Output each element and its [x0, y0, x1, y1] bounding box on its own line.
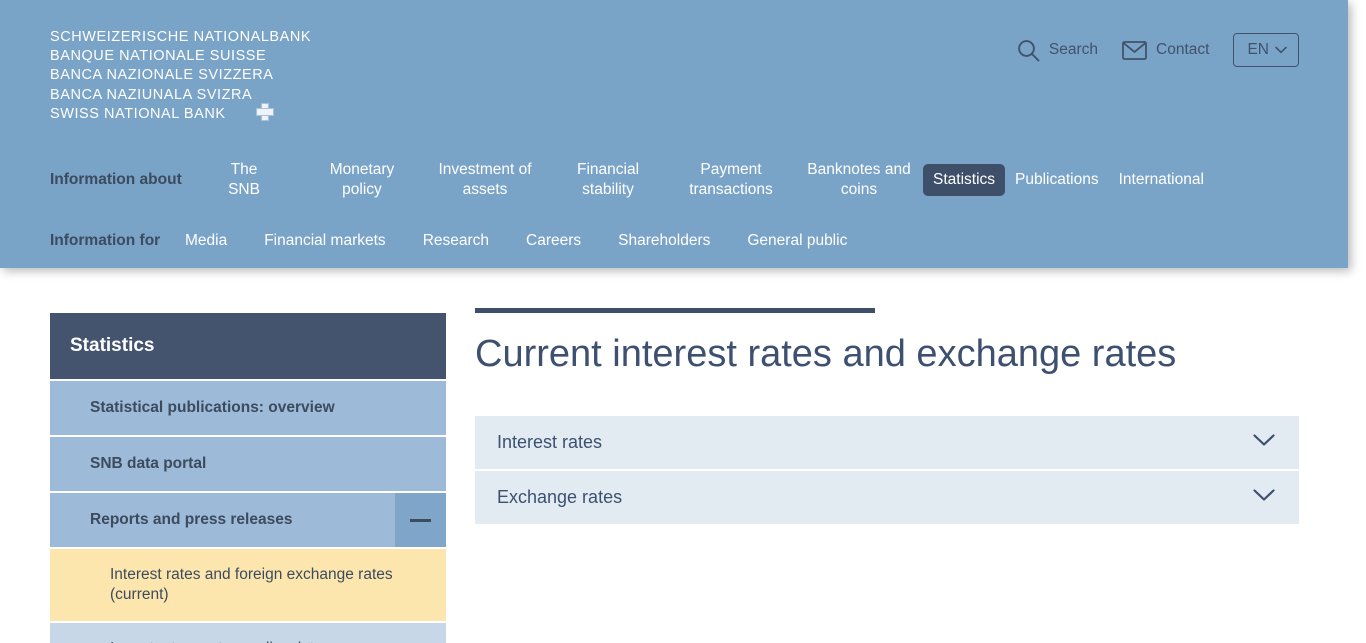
sidebar-item-label: Reports and press releases: [50, 493, 395, 547]
primary-nav-label: Information about: [0, 171, 185, 189]
nav-item-careers[interactable]: Careers: [526, 227, 581, 255]
sidebar-item-label: Statistical publications: overview: [50, 381, 446, 435]
sidebar-item-reports-and-press-releases[interactable]: Reports and press releases: [50, 491, 446, 547]
accordion-interest-rates[interactable]: Interest rates: [475, 416, 1299, 471]
chevron-down-icon: [1275, 41, 1287, 59]
page-content: Statistics Statistical publications: ove…: [0, 268, 1366, 643]
accordion-label: Exchange rates: [497, 487, 622, 508]
primary-nav-items: The SNB Monetary policy Investment of as…: [185, 154, 1348, 206]
nav-item-publications[interactable]: Publications: [1005, 164, 1109, 196]
nav-item-international[interactable]: International: [1109, 164, 1214, 196]
logo-line-fr: BANQUE NATIONALE SUISSE: [50, 47, 311, 66]
main-column: Current interest rates and exchange rate…: [475, 308, 1299, 526]
language-selector[interactable]: EN: [1233, 33, 1299, 67]
secondary-navigation: Information for Media Financial markets …: [0, 226, 1348, 255]
envelope-icon: [1122, 41, 1147, 60]
nav-item-banknotes-and-coins[interactable]: Banknotes and coins: [795, 154, 923, 206]
search-button[interactable]: Search: [1017, 39, 1098, 62]
nav-item-financial-stability[interactable]: Financial stability: [549, 154, 667, 206]
sidebar: Statistics Statistical publications: ove…: [50, 313, 446, 643]
sidebar-item-statistical-publications-overview[interactable]: Statistical publications: overview: [50, 379, 446, 435]
page-title: Current interest rates and exchange rate…: [475, 331, 1299, 377]
nav-item-shareholders[interactable]: Shareholders: [618, 227, 710, 255]
nav-item-financial-markets[interactable]: Financial markets: [264, 227, 385, 255]
nav-item-investment-of-assets[interactable]: Investment of assets: [421, 154, 549, 206]
title-rule: [475, 308, 875, 313]
swiss-cross-icon: [256, 103, 272, 119]
nav-item-media[interactable]: Media: [185, 227, 227, 255]
nav-item-the-snb[interactable]: The SNB: [185, 154, 303, 206]
nav-item-statistics[interactable]: Statistics: [923, 164, 1005, 196]
logo-line-it: BANCA NAZIONALE SVIZZERA: [50, 66, 311, 85]
search-icon: [1017, 39, 1040, 62]
minus-icon: [410, 519, 431, 522]
sidebar-item-label: SNB data portal: [50, 437, 446, 491]
contact-button[interactable]: Contact: [1122, 41, 1209, 60]
accordion-list: Interest rates Exchange rates: [475, 416, 1299, 526]
logo-line-de: SCHWEIZERISCHE NATIONALBANK: [50, 28, 311, 47]
header-tools: Search Contact EN: [1017, 33, 1299, 67]
logo-line-rm: BANCA NAZIUNALA SVIZRA: [50, 86, 311, 105]
search-label: Search: [1049, 41, 1098, 59]
nav-item-monetary-policy[interactable]: Monetary policy: [303, 154, 421, 206]
chevron-down-icon: [1253, 434, 1275, 452]
secondary-nav-label: Information for: [0, 232, 185, 250]
site-header: SCHWEIZERISCHE NATIONALBANK BANQUE NATIO…: [0, 0, 1348, 268]
sidebar-title: Statistics: [50, 313, 446, 379]
primary-navigation: Information about The SNB Monetary polic…: [0, 155, 1348, 205]
nav-item-general-public[interactable]: General public: [747, 227, 847, 255]
chevron-down-icon: [1253, 489, 1275, 507]
sidebar-subitem-interest-rates-and-foreign-exchange-rates-current[interactable]: Interest rates and foreign exchange rate…: [50, 547, 446, 621]
accordion-exchange-rates[interactable]: Exchange rates: [475, 471, 1299, 526]
accordion-label: Interest rates: [497, 432, 602, 453]
sidebar-item-snb-data-portal[interactable]: SNB data portal: [50, 435, 446, 491]
nav-item-research[interactable]: Research: [423, 227, 489, 255]
language-value: EN: [1247, 41, 1269, 59]
contact-label: Contact: [1156, 41, 1209, 59]
sidebar-subitem-important-monetary-policy-data[interactable]: Important monetary policy data: [50, 621, 446, 643]
secondary-nav-items: Media Financial markets Research Careers…: [185, 227, 1348, 255]
nav-item-payment-transactions[interactable]: Payment transactions: [667, 154, 795, 206]
collapse-section-button[interactable]: [395, 493, 446, 547]
